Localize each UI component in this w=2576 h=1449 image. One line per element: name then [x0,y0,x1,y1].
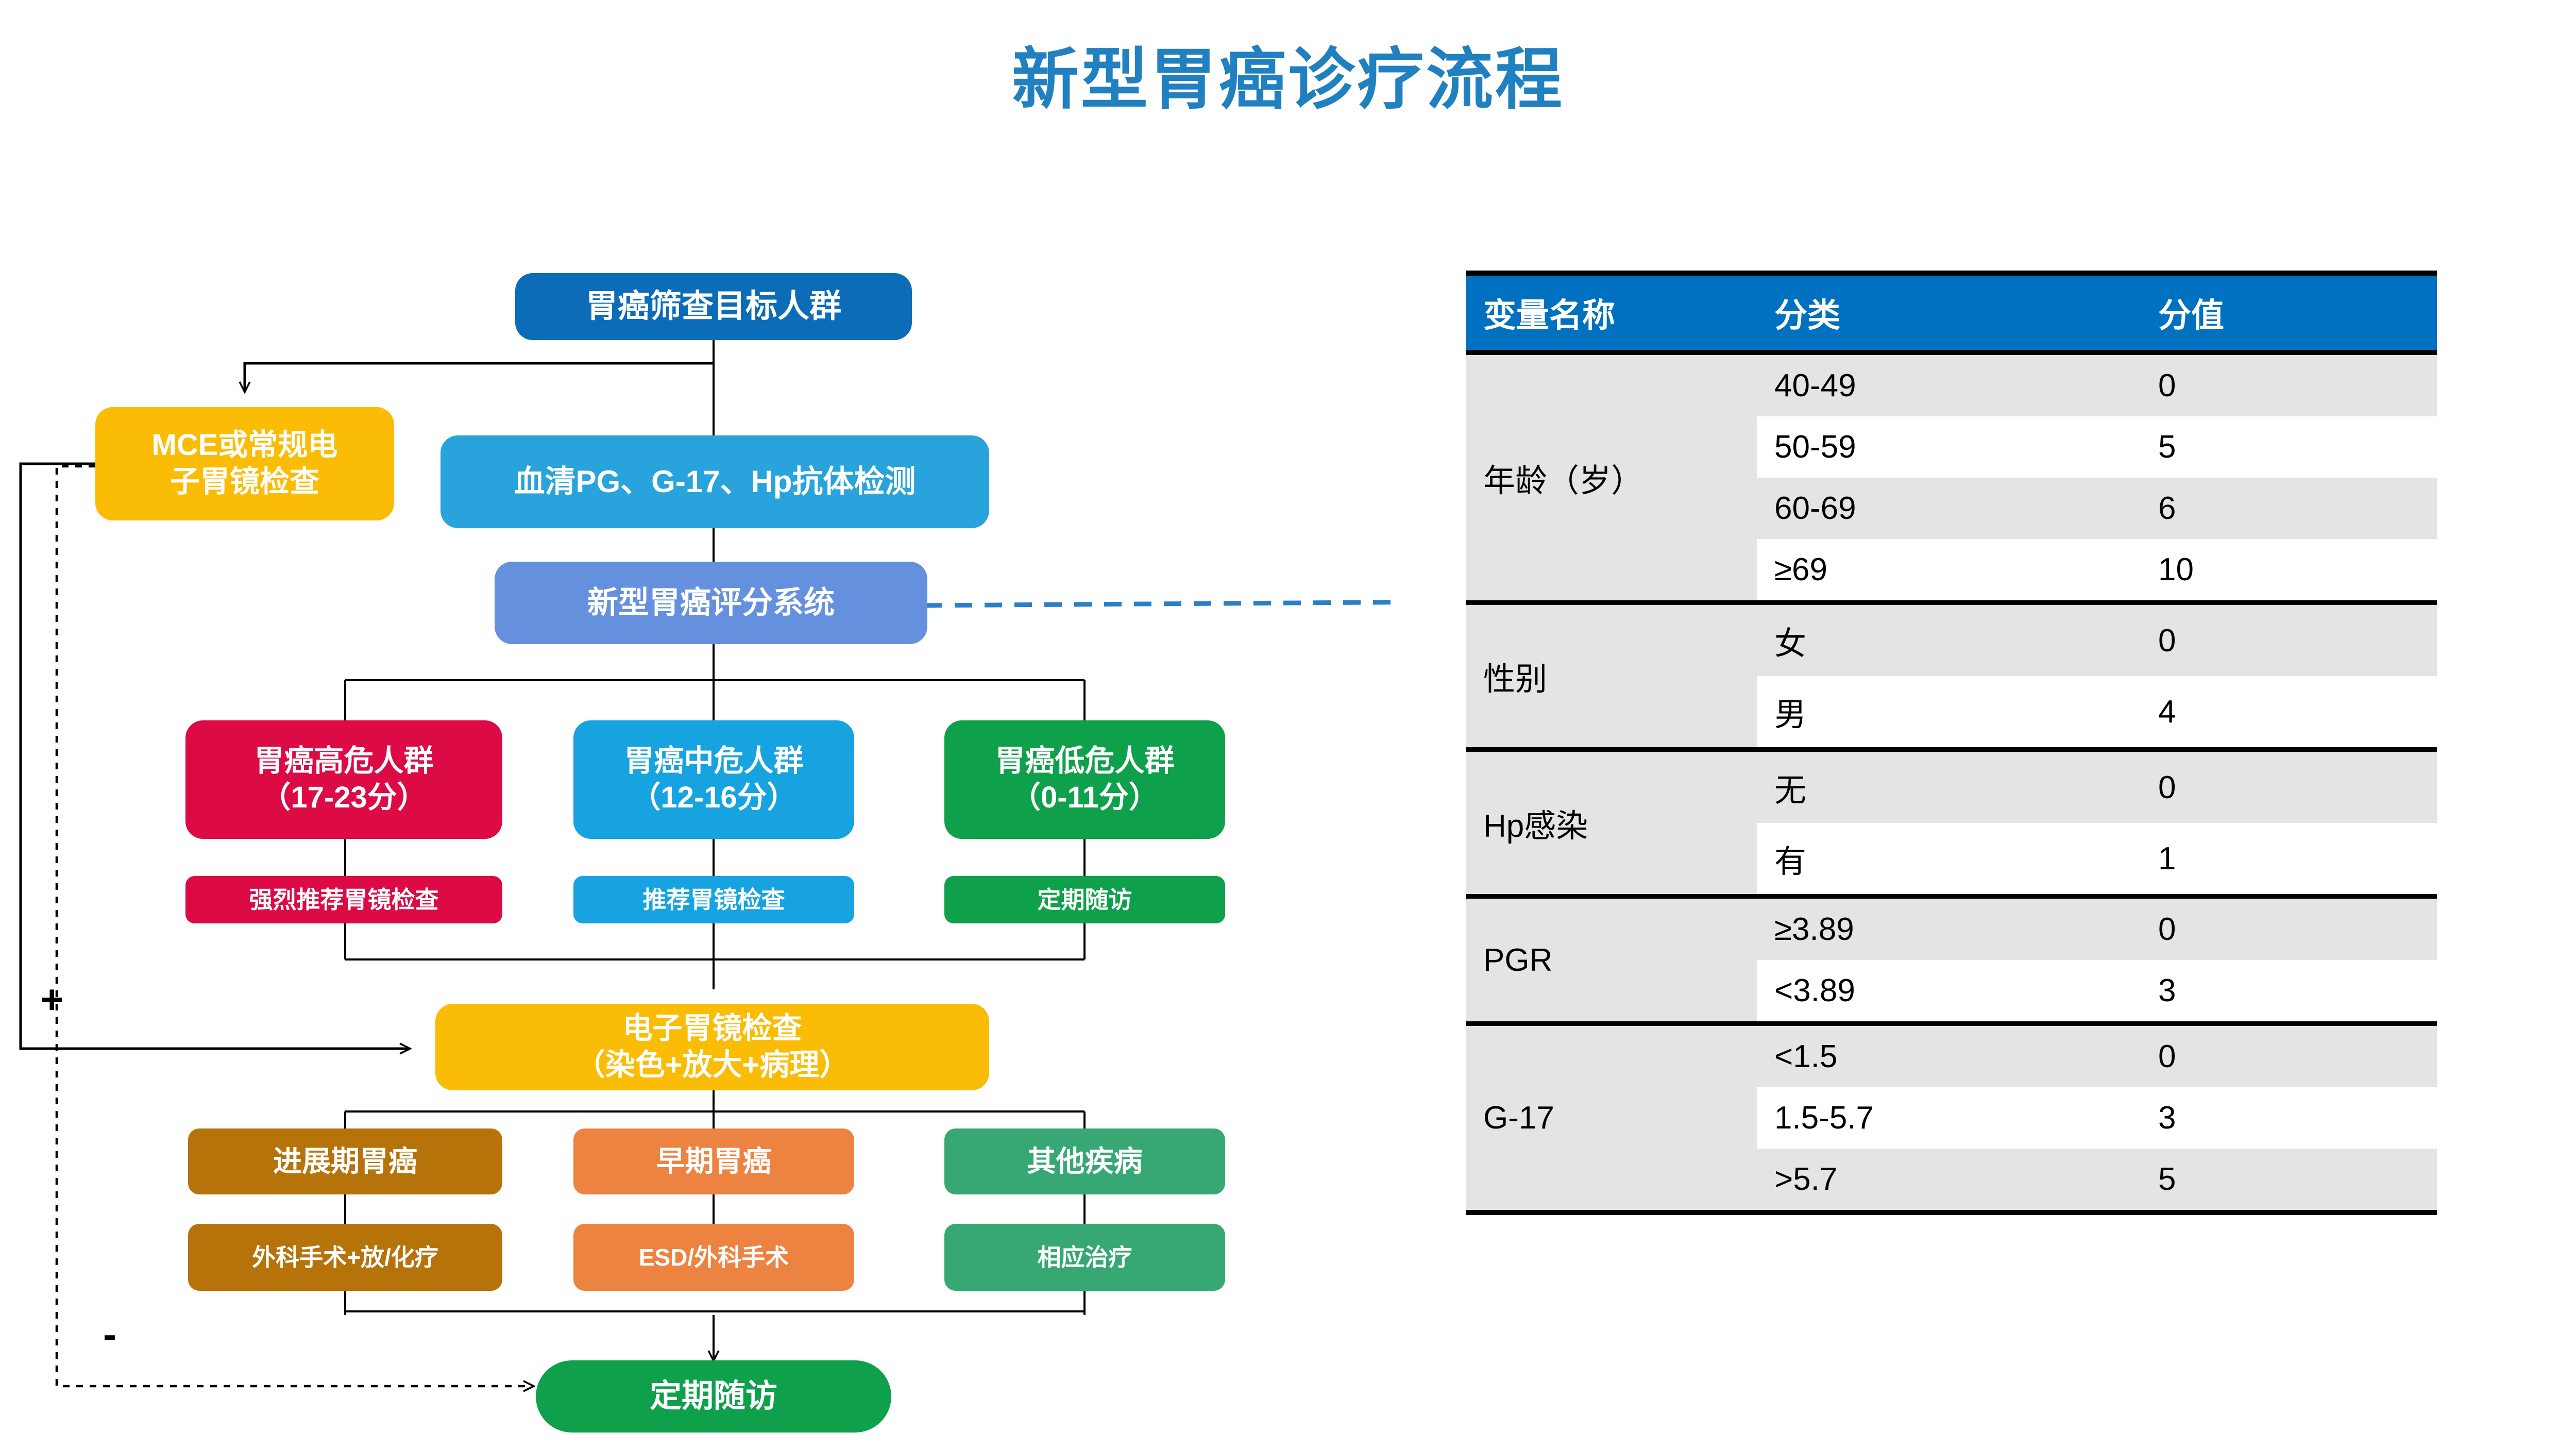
node-treatment-early[interactable]: ESD/外科手术 [573,1224,854,1291]
cell-category: 女 [1757,603,2141,677]
cell-category: 40-49 [1757,352,2141,416]
cell-category: ≥69 [1757,539,2141,603]
cell-category: <1.5 [1757,1024,2141,1088]
node-risk-mid[interactable]: 胃癌中危人群 （12-16分） [573,720,854,839]
table-row: 年龄（岁）40-490 [1466,352,2437,416]
node-action-high[interactable]: 强烈推荐胃镜检查 [185,876,502,923]
cell-category: 60-69 [1757,478,2141,539]
table-body: 年龄（岁）40-49050-59560-696≥6910性别女0男4Hp感染无0… [1466,352,2437,1210]
node-risk-low[interactable]: 胃癌低危人群 （0-11分） [944,720,1225,839]
cell-score: 3 [2141,960,2437,1024]
cell-variable-name: 性别 [1466,603,1757,750]
table-row: PGR≥3.890 [1466,897,2437,961]
cell-variable-name: 年龄（岁） [1466,352,1757,603]
cell-category: <3.89 [1757,960,2141,1024]
node-diagnosis-advanced[interactable]: 进展期胃癌 [188,1128,502,1194]
table-row: G-17<1.50 [1466,1024,2437,1088]
node-risk-high[interactable]: 胃癌高危人群 （17-23分） [185,720,502,839]
node-action-low[interactable]: 定期随访 [944,876,1225,923]
label-negative: - [103,1314,116,1354]
col-header-score: 分值 [2141,276,2437,352]
node-endoscopy[interactable]: 电子胃镜检查 （染色+放大+病理） [435,1004,989,1090]
col-header-category: 分类 [1757,276,2141,352]
node-action-mid[interactable]: 推荐胃镜检查 [573,876,854,923]
cell-score: 5 [2141,416,2437,478]
cell-score: 6 [2141,478,2437,539]
cell-score: 0 [2141,1024,2437,1088]
score-table: 变量名称 分类 分值 年龄（岁）40-49050-59560-696≥6910性… [1466,271,2437,1215]
table-row: Hp感染无0 [1466,750,2437,823]
label-positive: + [40,979,64,1019]
node-treatment-other[interactable]: 相应治疗 [944,1224,1225,1291]
cell-category: ≥3.89 [1757,897,2141,961]
cell-category: 50-59 [1757,416,2141,478]
cell-category: 1.5-5.7 [1757,1087,2141,1149]
cell-score: 1 [2141,823,2437,897]
cell-score: 5 [2141,1149,2437,1210]
flowchart: 胃癌筛查目标人群 MCE或常规电 子胃镜检查 血清PG、G-17、Hp抗体检测 … [0,0,1391,1449]
node-scoring-system[interactable]: 新型胃癌评分系统 [495,562,927,644]
cell-category: 无 [1757,750,2141,823]
cell-score: 4 [2141,676,2437,750]
node-followup[interactable]: 定期随访 [536,1360,891,1433]
cell-category: 男 [1757,676,2141,750]
cell-variable-name: Hp感染 [1466,750,1757,897]
col-header-variable: 变量名称 [1466,276,1757,352]
cell-score: 0 [2141,603,2437,677]
node-diagnosis-other[interactable]: 其他疾病 [944,1128,1225,1194]
node-target-population[interactable]: 胃癌筛查目标人群 [515,273,912,340]
cell-variable-name: G-17 [1466,1024,1757,1210]
cell-score: 10 [2141,539,2437,603]
cell-score: 0 [2141,352,2437,416]
table-row: 性别女0 [1466,603,2437,677]
node-diagnosis-early[interactable]: 早期胃癌 [573,1128,854,1194]
node-serum-test[interactable]: 血清PG、G-17、Hp抗体检测 [440,435,989,528]
cell-category: >5.7 [1757,1149,2141,1210]
slide-canvas: 新型胃癌诊疗流程 [0,0,2576,1449]
cell-score: 0 [2141,897,2437,961]
node-treatment-advanced[interactable]: 外科手术+放/化疗 [188,1224,502,1291]
cell-category: 有 [1757,823,2141,897]
node-mce-exam[interactable]: MCE或常规电 子胃镜检查 [95,407,394,520]
cell-score: 3 [2141,1087,2437,1149]
table-header-row: 变量名称 分类 分值 [1466,276,2437,352]
cell-score: 0 [2141,750,2437,823]
cell-variable-name: PGR [1466,897,1757,1024]
